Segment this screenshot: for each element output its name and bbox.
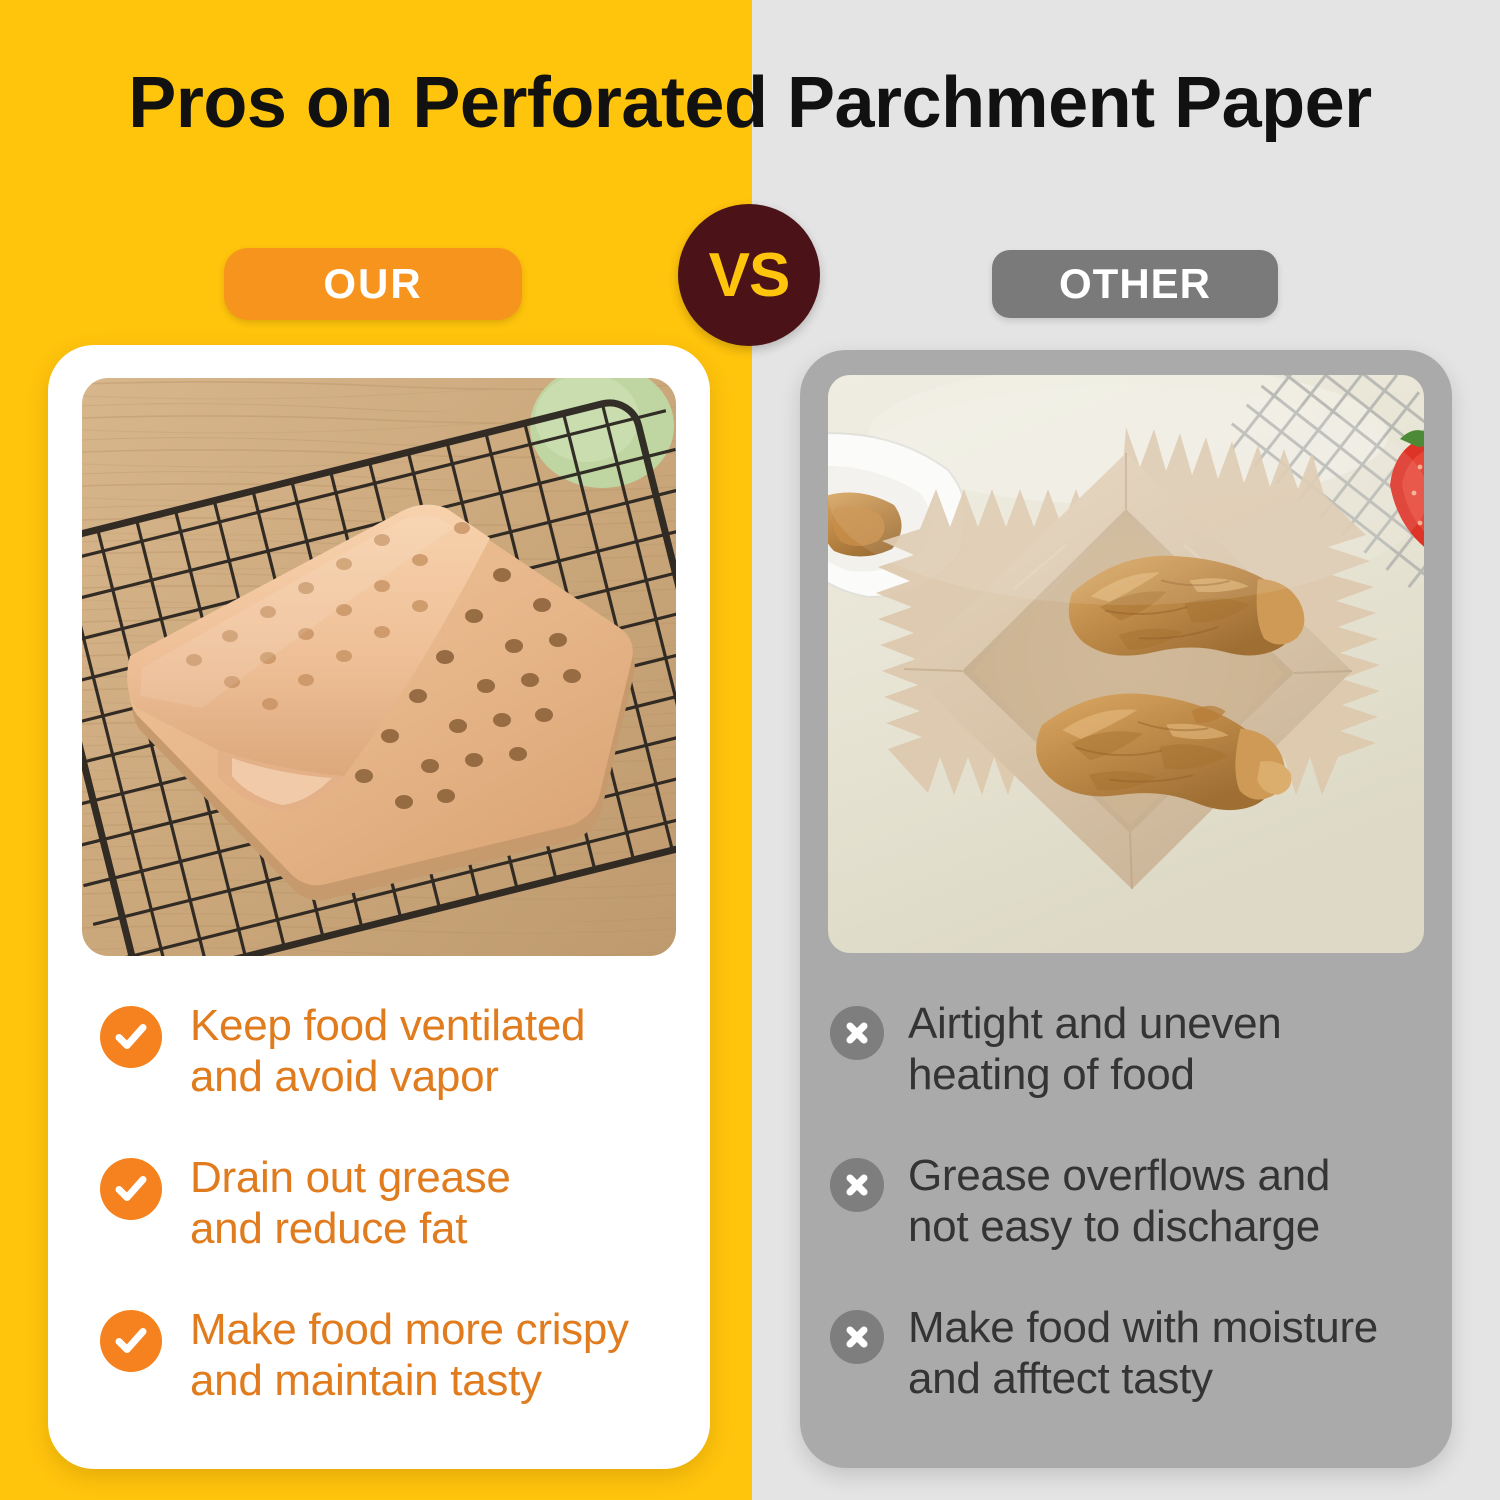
other-drawbacks-list: Airtight and uneven heating of food Grea… xyxy=(800,998,1452,1454)
other-badge: OTHER xyxy=(992,250,1278,318)
list-item-line1: Grease overflows and xyxy=(908,1150,1330,1201)
page-title: Pros on Perforated Parchment Paper xyxy=(0,62,1500,144)
other-badge-label: OTHER xyxy=(1059,260,1211,308)
list-item: Grease overflows and not easy to dischar… xyxy=(830,1150,1432,1252)
other-product-card: Airtight and uneven heating of food Grea… xyxy=(800,350,1452,1468)
list-item: Make food with moisture and afftect tast… xyxy=(830,1302,1432,1404)
list-item-text: Make food with moisture and afftect tast… xyxy=(908,1302,1378,1404)
list-item-line1: Keep food ventilated xyxy=(190,1000,585,1051)
list-item-text: Drain out grease and reduce fat xyxy=(190,1152,511,1254)
list-item-line2: and reduce fat xyxy=(190,1203,511,1254)
comparison-infographic: Pros on Perforated Parchment Paper OUR V… xyxy=(0,0,1500,1500)
list-item-text: Keep food ventilated and avoid vapor xyxy=(190,1000,585,1102)
perforated-parchment-photo-illustration xyxy=(82,378,676,956)
list-item-line2: heating of food xyxy=(908,1049,1281,1100)
list-item-text: Airtight and uneven heating of food xyxy=(908,998,1281,1100)
list-item-line2: and afftect tasty xyxy=(908,1353,1378,1404)
list-item-line1: Make food more crispy xyxy=(190,1304,629,1355)
other-product-photo xyxy=(828,375,1424,953)
our-badge-label: OUR xyxy=(323,260,422,308)
our-product-card: Keep food ventilated and avoid vapor Dra… xyxy=(48,345,710,1469)
list-item: Keep food ventilated and avoid vapor xyxy=(100,1000,688,1102)
list-item-line1: Airtight and uneven xyxy=(908,998,1281,1049)
list-item-line1: Make food with moisture xyxy=(908,1302,1378,1353)
cross-circle-icon xyxy=(830,1310,884,1364)
list-item: Make food more crispy and maintain tasty xyxy=(100,1304,688,1406)
check-circle-icon xyxy=(100,1158,162,1220)
solid-parchment-liner-photo-illustration xyxy=(828,375,1424,953)
vs-badge: VS xyxy=(678,204,820,346)
list-item-line2: and avoid vapor xyxy=(190,1051,585,1102)
list-item-line1: Drain out grease xyxy=(190,1152,511,1203)
list-item: Airtight and uneven heating of food xyxy=(830,998,1432,1100)
check-circle-icon xyxy=(100,1310,162,1372)
our-badge: OUR xyxy=(224,248,522,320)
cross-circle-icon xyxy=(830,1158,884,1212)
cross-circle-icon xyxy=(830,1006,884,1060)
list-item-text: Grease overflows and not easy to dischar… xyxy=(908,1150,1330,1252)
list-item-line2: not easy to discharge xyxy=(908,1201,1330,1252)
list-item-text: Make food more crispy and maintain tasty xyxy=(190,1304,629,1406)
list-item: Drain out grease and reduce fat xyxy=(100,1152,688,1254)
vs-badge-label: VS xyxy=(709,240,790,311)
our-benefits-list: Keep food ventilated and avoid vapor Dra… xyxy=(48,1000,710,1456)
check-circle-icon xyxy=(100,1006,162,1068)
list-item-line2: and maintain tasty xyxy=(190,1355,629,1406)
our-product-photo xyxy=(82,378,676,956)
